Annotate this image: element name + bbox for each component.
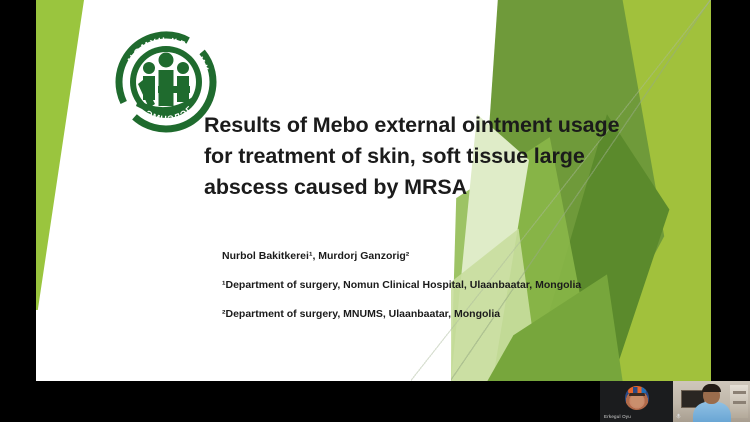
participant-tile-strip: Erkegul Oyu [600,381,750,422]
slide-authors-block: Nurbol Bakitkerei¹, Murdorj Ganzorig² ¹D… [222,250,652,337]
presentation-slide[interactable]: НОМУН КЛИНИК ЭМНЭЛЭГ Results of Mebo ext… [36,0,711,381]
slide-affiliation-2: ²Department of surgery, MNUMS, Ulaanbaat… [222,308,652,320]
participant-tile-1[interactable]: Erkegul Oyu [600,381,673,422]
slide-title: Results of Mebo external ointment usage … [204,110,604,203]
participant-tile-2[interactable] [673,381,750,422]
video-person-hair [702,384,721,392]
video-person-body [693,402,731,422]
video-shelf-line-1 [733,391,746,394]
slide-title-line-2: for treatment of skin, soft tissue large [204,141,604,172]
avatar [625,386,649,410]
slide-decor-left-wedge [36,0,96,310]
avatar-headband [628,387,646,393]
slide-title-line-1: Results of Mebo external ointment usage [204,110,604,141]
microphone-icon [675,413,682,419]
participant-name-label: Erkegul Oyu [604,414,631,419]
slide-affiliation-1: ¹Department of surgery, Nomun Clinical H… [222,279,652,291]
slide-title-line-3: abscess caused by MRSA [204,172,604,203]
screen-share-view: НОМУН КЛИНИК ЭМНЭЛЭГ Results of Mebo ext… [0,0,750,422]
slide-authors: Nurbol Bakitkerei¹, Murdorj Ganzorig² [222,250,652,262]
video-shelf-line-2 [733,401,746,404]
